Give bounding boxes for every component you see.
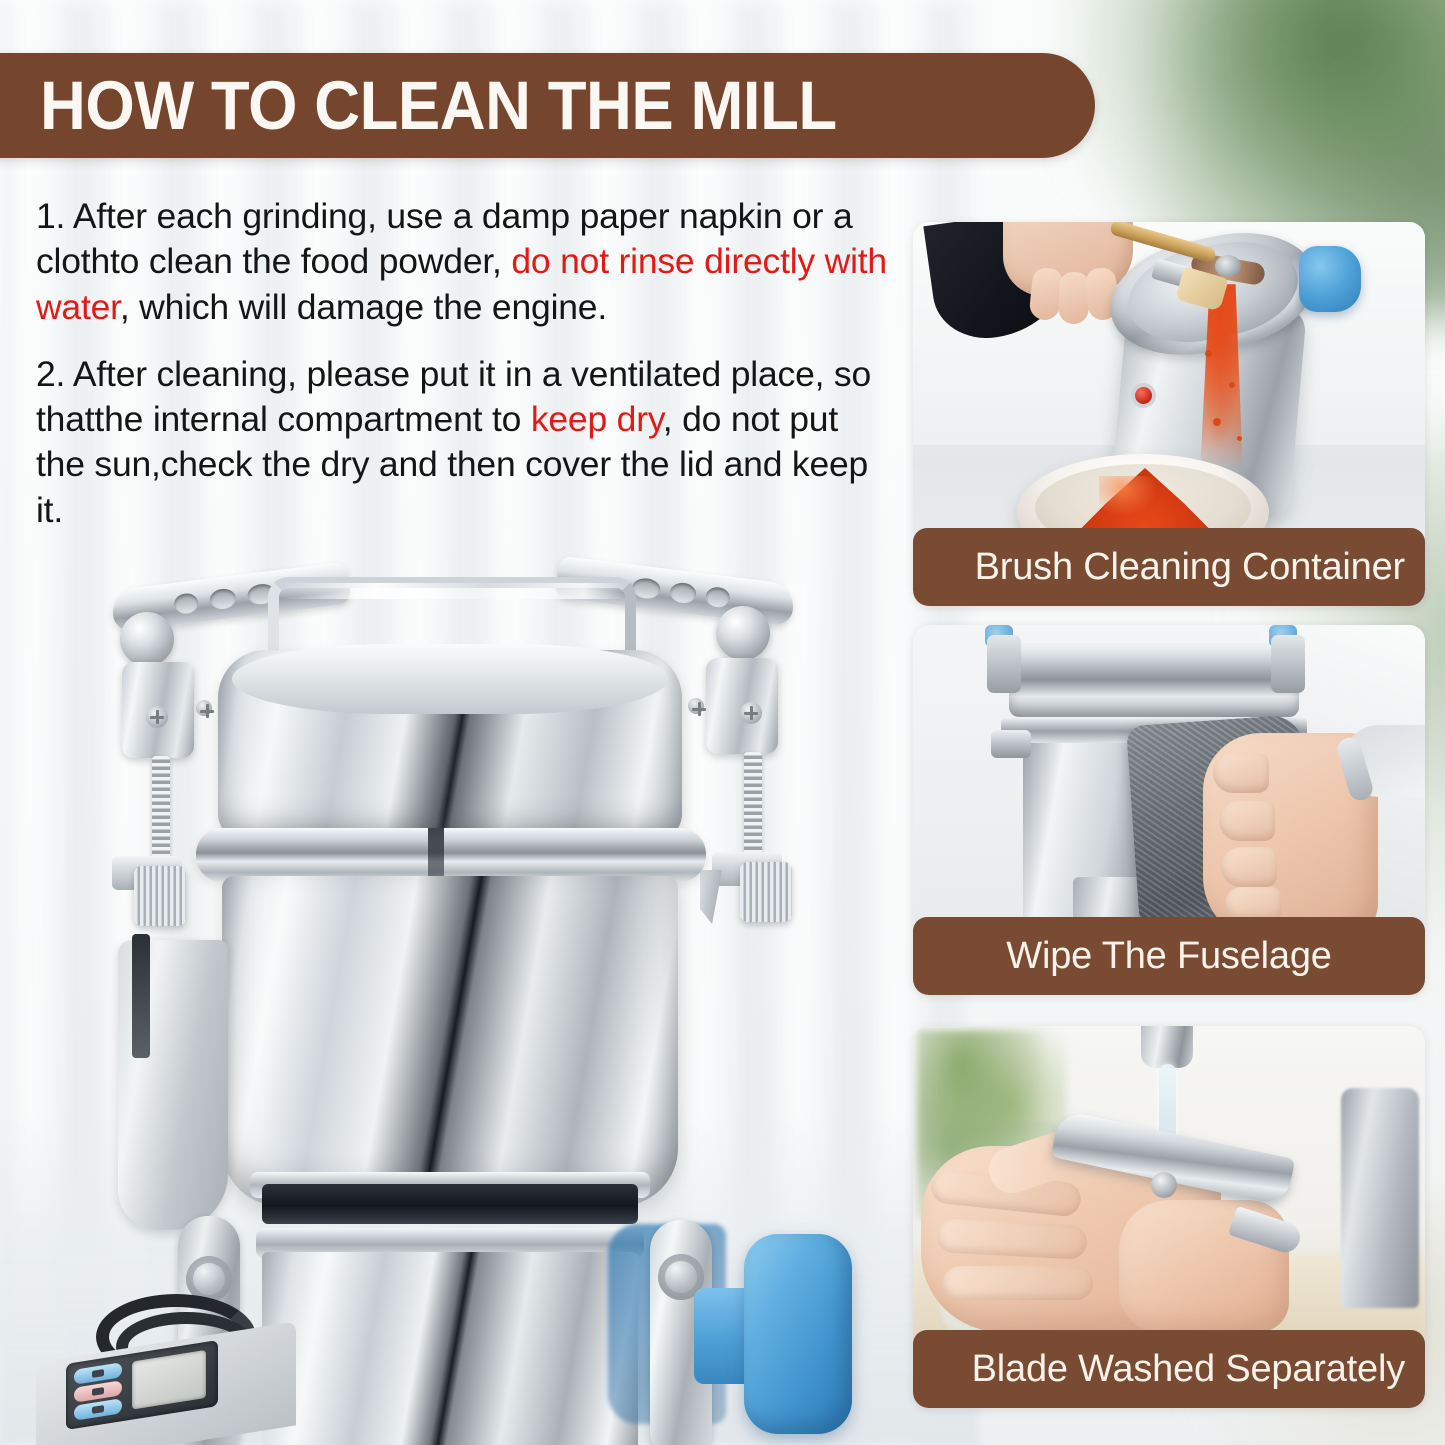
p3-canister <box>1341 1088 1419 1308</box>
caption-bar-blade-washed: Blade Washed Separately <box>913 1330 1425 1408</box>
clamp-screw-right-2 <box>688 698 704 714</box>
p1-powder-speck <box>1229 382 1235 388</box>
instruction-item-2: 2. After cleaning, please put it in a ve… <box>36 352 892 533</box>
p2-clamp-right <box>1271 635 1305 693</box>
lcd-display <box>132 1350 206 1410</box>
instruction-1-text-after: , which will damage the engine. <box>120 287 607 327</box>
motor-base <box>262 1252 638 1445</box>
p1-power-button <box>1135 387 1152 404</box>
clamp-ball-knob-left <box>120 612 174 666</box>
grinder-collar <box>196 828 706 882</box>
p2-finger <box>1221 847 1277 887</box>
p2-finger <box>1219 801 1275 841</box>
p3-faucet <box>1141 1026 1193 1068</box>
lid-handle-highlight <box>278 583 626 599</box>
photo-panel-blade-washed: Blade Washed Separately <box>913 1026 1425 1408</box>
photo-panel-brush-cleaning: Brush Cleaning Container <box>913 222 1425 606</box>
clamp-screw-right <box>740 702 762 724</box>
product-grinder-illustration <box>0 540 890 1445</box>
button-icon <box>92 1405 104 1414</box>
p1-powder-speck <box>1205 350 1212 357</box>
clamp-ball-knob-right <box>716 606 770 660</box>
p1-blade-hub <box>1215 255 1241 277</box>
p1-powder-speck <box>1237 436 1242 441</box>
infographic-page: HOW TO CLEAN THE MILL 1. After each grin… <box>0 0 1445 1445</box>
caption-label-brush-cleaning: Brush Cleaning Container <box>975 546 1405 589</box>
thumb-nut-right <box>740 862 792 922</box>
side-arm-shadow <box>132 934 150 1058</box>
p2-finger <box>1213 753 1269 793</box>
instructions-block: 1. After each grinding, use a damp paper… <box>36 194 892 555</box>
page-title: HOW TO CLEAN THE MILL <box>40 71 837 140</box>
grinder-lid-top <box>232 644 668 714</box>
p3-blade-hub <box>1151 1172 1177 1198</box>
caption-label-wipe-fuselage: Wipe The Fuselage <box>1006 935 1331 978</box>
p1-powder-highlight <box>1099 476 1157 516</box>
instruction-2-highlight: keep dry <box>531 399 663 439</box>
clamp-screw-left <box>146 706 168 728</box>
caption-bar-wipe-fuselage: Wipe The Fuselage <box>913 917 1425 995</box>
grinder-collar-shadow <box>428 828 444 882</box>
instruction-item-1: 1. After each grinding, use a damp paper… <box>36 194 892 330</box>
grinding-bowl <box>222 876 678 1206</box>
p2-spigot <box>991 730 1031 758</box>
p3-finger <box>943 1266 1093 1300</box>
blue-tilt-handle <box>744 1234 852 1434</box>
caption-label-blade-washed: Blade Washed Separately <box>972 1348 1405 1391</box>
title-banner: HOW TO CLEAN THE MILL <box>0 53 1095 158</box>
thumb-nut-left <box>134 866 186 926</box>
p2-finger <box>1225 887 1281 921</box>
button-icon <box>92 1369 104 1378</box>
p1-powder-speck <box>1213 418 1221 426</box>
p1-blue-handle <box>1299 246 1361 312</box>
photo-panel-wipe-fuselage: Wipe The Fuselage <box>913 625 1425 995</box>
caption-bar-brush-cleaning: Brush Cleaning Container <box>913 528 1425 606</box>
button-icon <box>92 1387 104 1396</box>
clamp-screw-left-2 <box>196 700 212 716</box>
base-neck-gap <box>262 1184 638 1224</box>
p2-mill-lid <box>1009 643 1299 717</box>
p2-clamp-left <box>987 635 1021 693</box>
clamp-foot-tail-right <box>700 870 722 924</box>
